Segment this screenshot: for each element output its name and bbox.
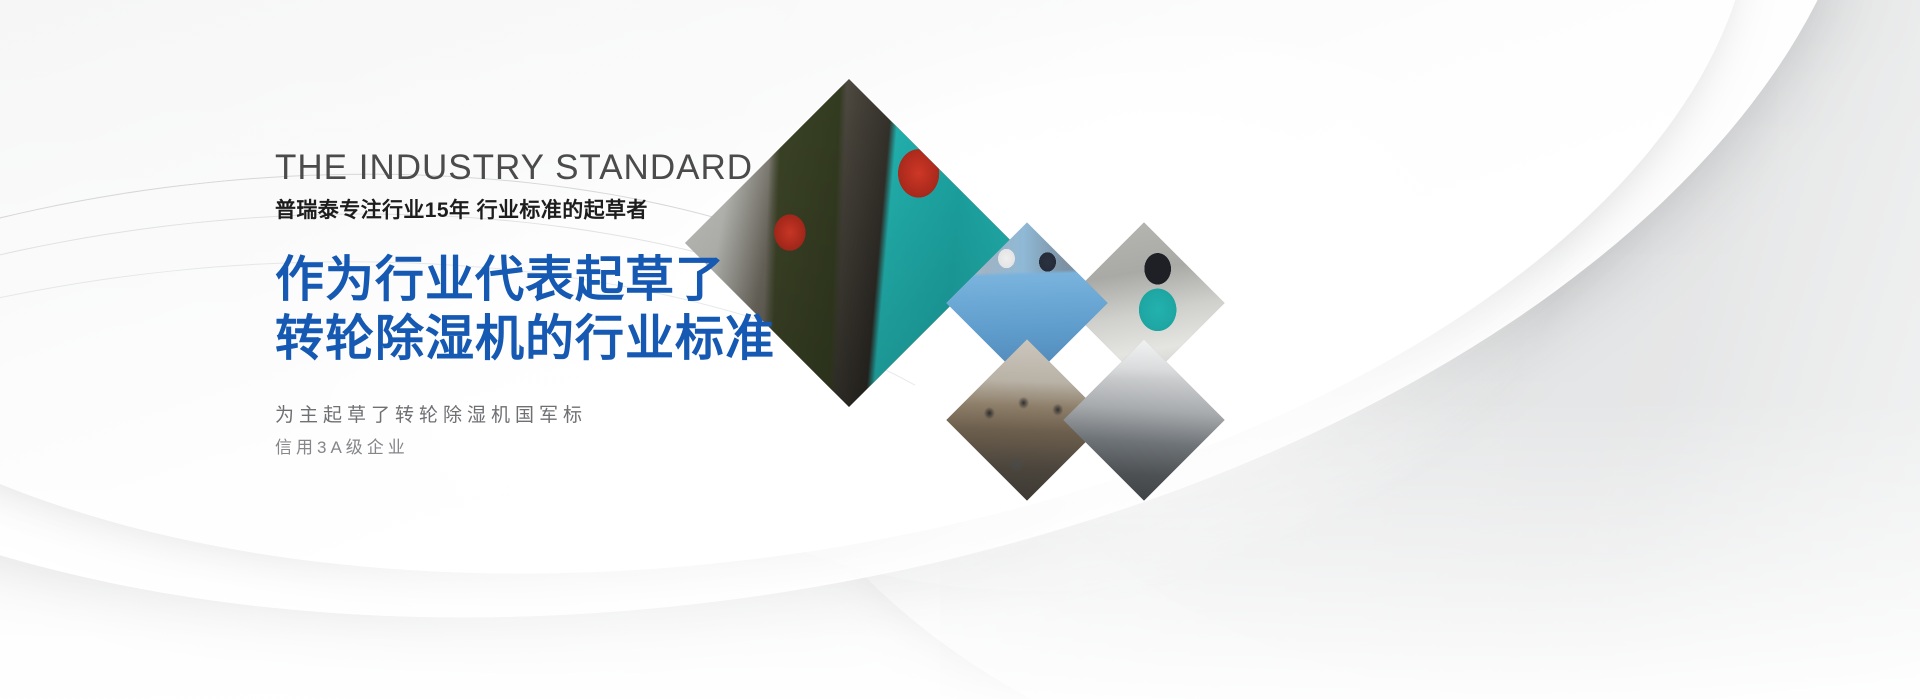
production-workshop-photo <box>1063 339 1224 500</box>
chinese-subtitle: 普瑞泰专注行业15年 行业标准的起草者 <box>275 194 895 224</box>
english-title: THE INDUSTRY STANDARD <box>275 150 895 187</box>
headline-line-2: 转轮除湿机的行业标准 <box>275 310 895 369</box>
banner-text-block: THE INDUSTRY STANDARD 普瑞泰专注行业15年 行业标准的起草… <box>275 150 895 462</box>
tagline-block: 为主起草了转轮除湿机国军标 信用3A级企业 <box>275 399 895 462</box>
tagline-line-1: 为主起草了转轮除湿机国军标 <box>275 399 895 432</box>
production-workshop-image <box>1063 339 1224 500</box>
promotional-banner: THE INDUSTRY STANDARD 普瑞泰专注行业15年 行业标准的起草… <box>0 0 1920 699</box>
tagline-line-2: 信用3A级企业 <box>275 433 895 463</box>
page-title: 作为行业代表起草了 转轮除湿机的行业标准 <box>275 251 895 369</box>
headline-line-1: 作为行业代表起草了 <box>275 253 725 307</box>
